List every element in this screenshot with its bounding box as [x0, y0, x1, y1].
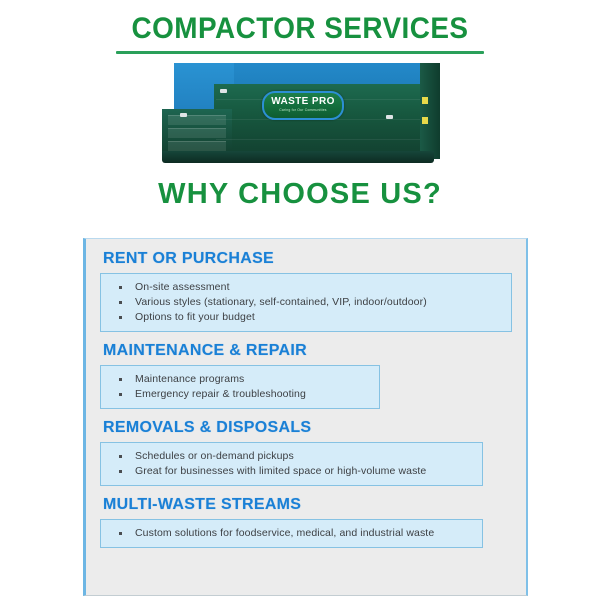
bullet-box: Custom solutions for foodservice, medica…: [100, 519, 483, 548]
section-title: REMOVALS & DISPOSALS: [103, 419, 512, 437]
compactor-louver: [168, 128, 226, 138]
compactor-seam: [216, 139, 422, 140]
compactor-warning-sticker: [422, 97, 428, 104]
section-removals-and-disposals: REMOVALS & DISPOSALS Schedules or on-dem…: [100, 419, 512, 486]
bullet-box: Maintenance programs Emergency repair & …: [100, 365, 380, 409]
compactor-right-rail: [420, 63, 440, 159]
compactor-louver: [168, 115, 226, 125]
bullet-list: Schedules or on-demand pickups Great for…: [111, 449, 472, 479]
waste-pro-logo-text: WASTE PRO: [271, 97, 335, 107]
list-item: Options to fit your budget: [111, 310, 501, 325]
bullet-list: On-site assessment Various styles (stati…: [111, 280, 501, 325]
compactor-illustration: WASTE PRO Caring for Our Communities: [158, 59, 442, 167]
list-item: Various styles (stationary, self-contain…: [111, 295, 501, 310]
bullet-list: Custom solutions for foodservice, medica…: [111, 526, 472, 541]
compactor-label-plate: [220, 89, 227, 93]
section-multi-waste-streams: MULTI-WASTE STREAMS Custom solutions for…: [100, 496, 512, 548]
section-maintenance-and-repair: MAINTENANCE & REPAIR Maintenance program…: [100, 342, 512, 409]
compactor-label-plate: [180, 113, 187, 117]
section-title: MULTI-WASTE STREAMS: [103, 496, 512, 514]
list-item: Emergency repair & troubleshooting: [111, 387, 369, 402]
list-item: Maintenance programs: [111, 372, 369, 387]
hero-image-compactor: WASTE PRO Caring for Our Communities: [158, 59, 442, 167]
compactor-label-plate: [386, 115, 393, 119]
page-title: COMPACTOR SERVICES: [21, 13, 579, 45]
bullet-box: Schedules or on-demand pickups Great for…: [100, 442, 483, 486]
bullet-box: On-site assessment Various styles (stati…: [100, 273, 512, 332]
why-choose-us-panel: RENT OR PURCHASE On-site assessment Vari…: [83, 238, 528, 596]
compactor-warning-sticker: [422, 117, 428, 124]
list-item: On-site assessment: [111, 280, 501, 295]
list-item: Great for businesses with limited space …: [111, 464, 472, 479]
section-title: RENT OR PURCHASE: [103, 250, 512, 268]
title-divider: [116, 51, 484, 54]
section-rent-or-purchase: RENT OR PURCHASE On-site assessment Vari…: [100, 250, 512, 332]
waste-pro-logo-tagline: Caring for Our Communities: [279, 109, 326, 112]
list-item: Schedules or on-demand pickups: [111, 449, 472, 464]
section-title: MAINTENANCE & REPAIR: [103, 342, 512, 360]
waste-pro-logo-badge: WASTE PRO Caring for Our Communities: [262, 91, 344, 120]
bullet-list: Maintenance programs Emergency repair & …: [111, 372, 369, 402]
compactor-base-skid: [162, 151, 434, 163]
compactor-louver: [168, 141, 226, 151]
section-subtitle: WHY CHOOSE US?: [0, 179, 600, 211]
list-item: Custom solutions for foodservice, medica…: [111, 526, 472, 541]
